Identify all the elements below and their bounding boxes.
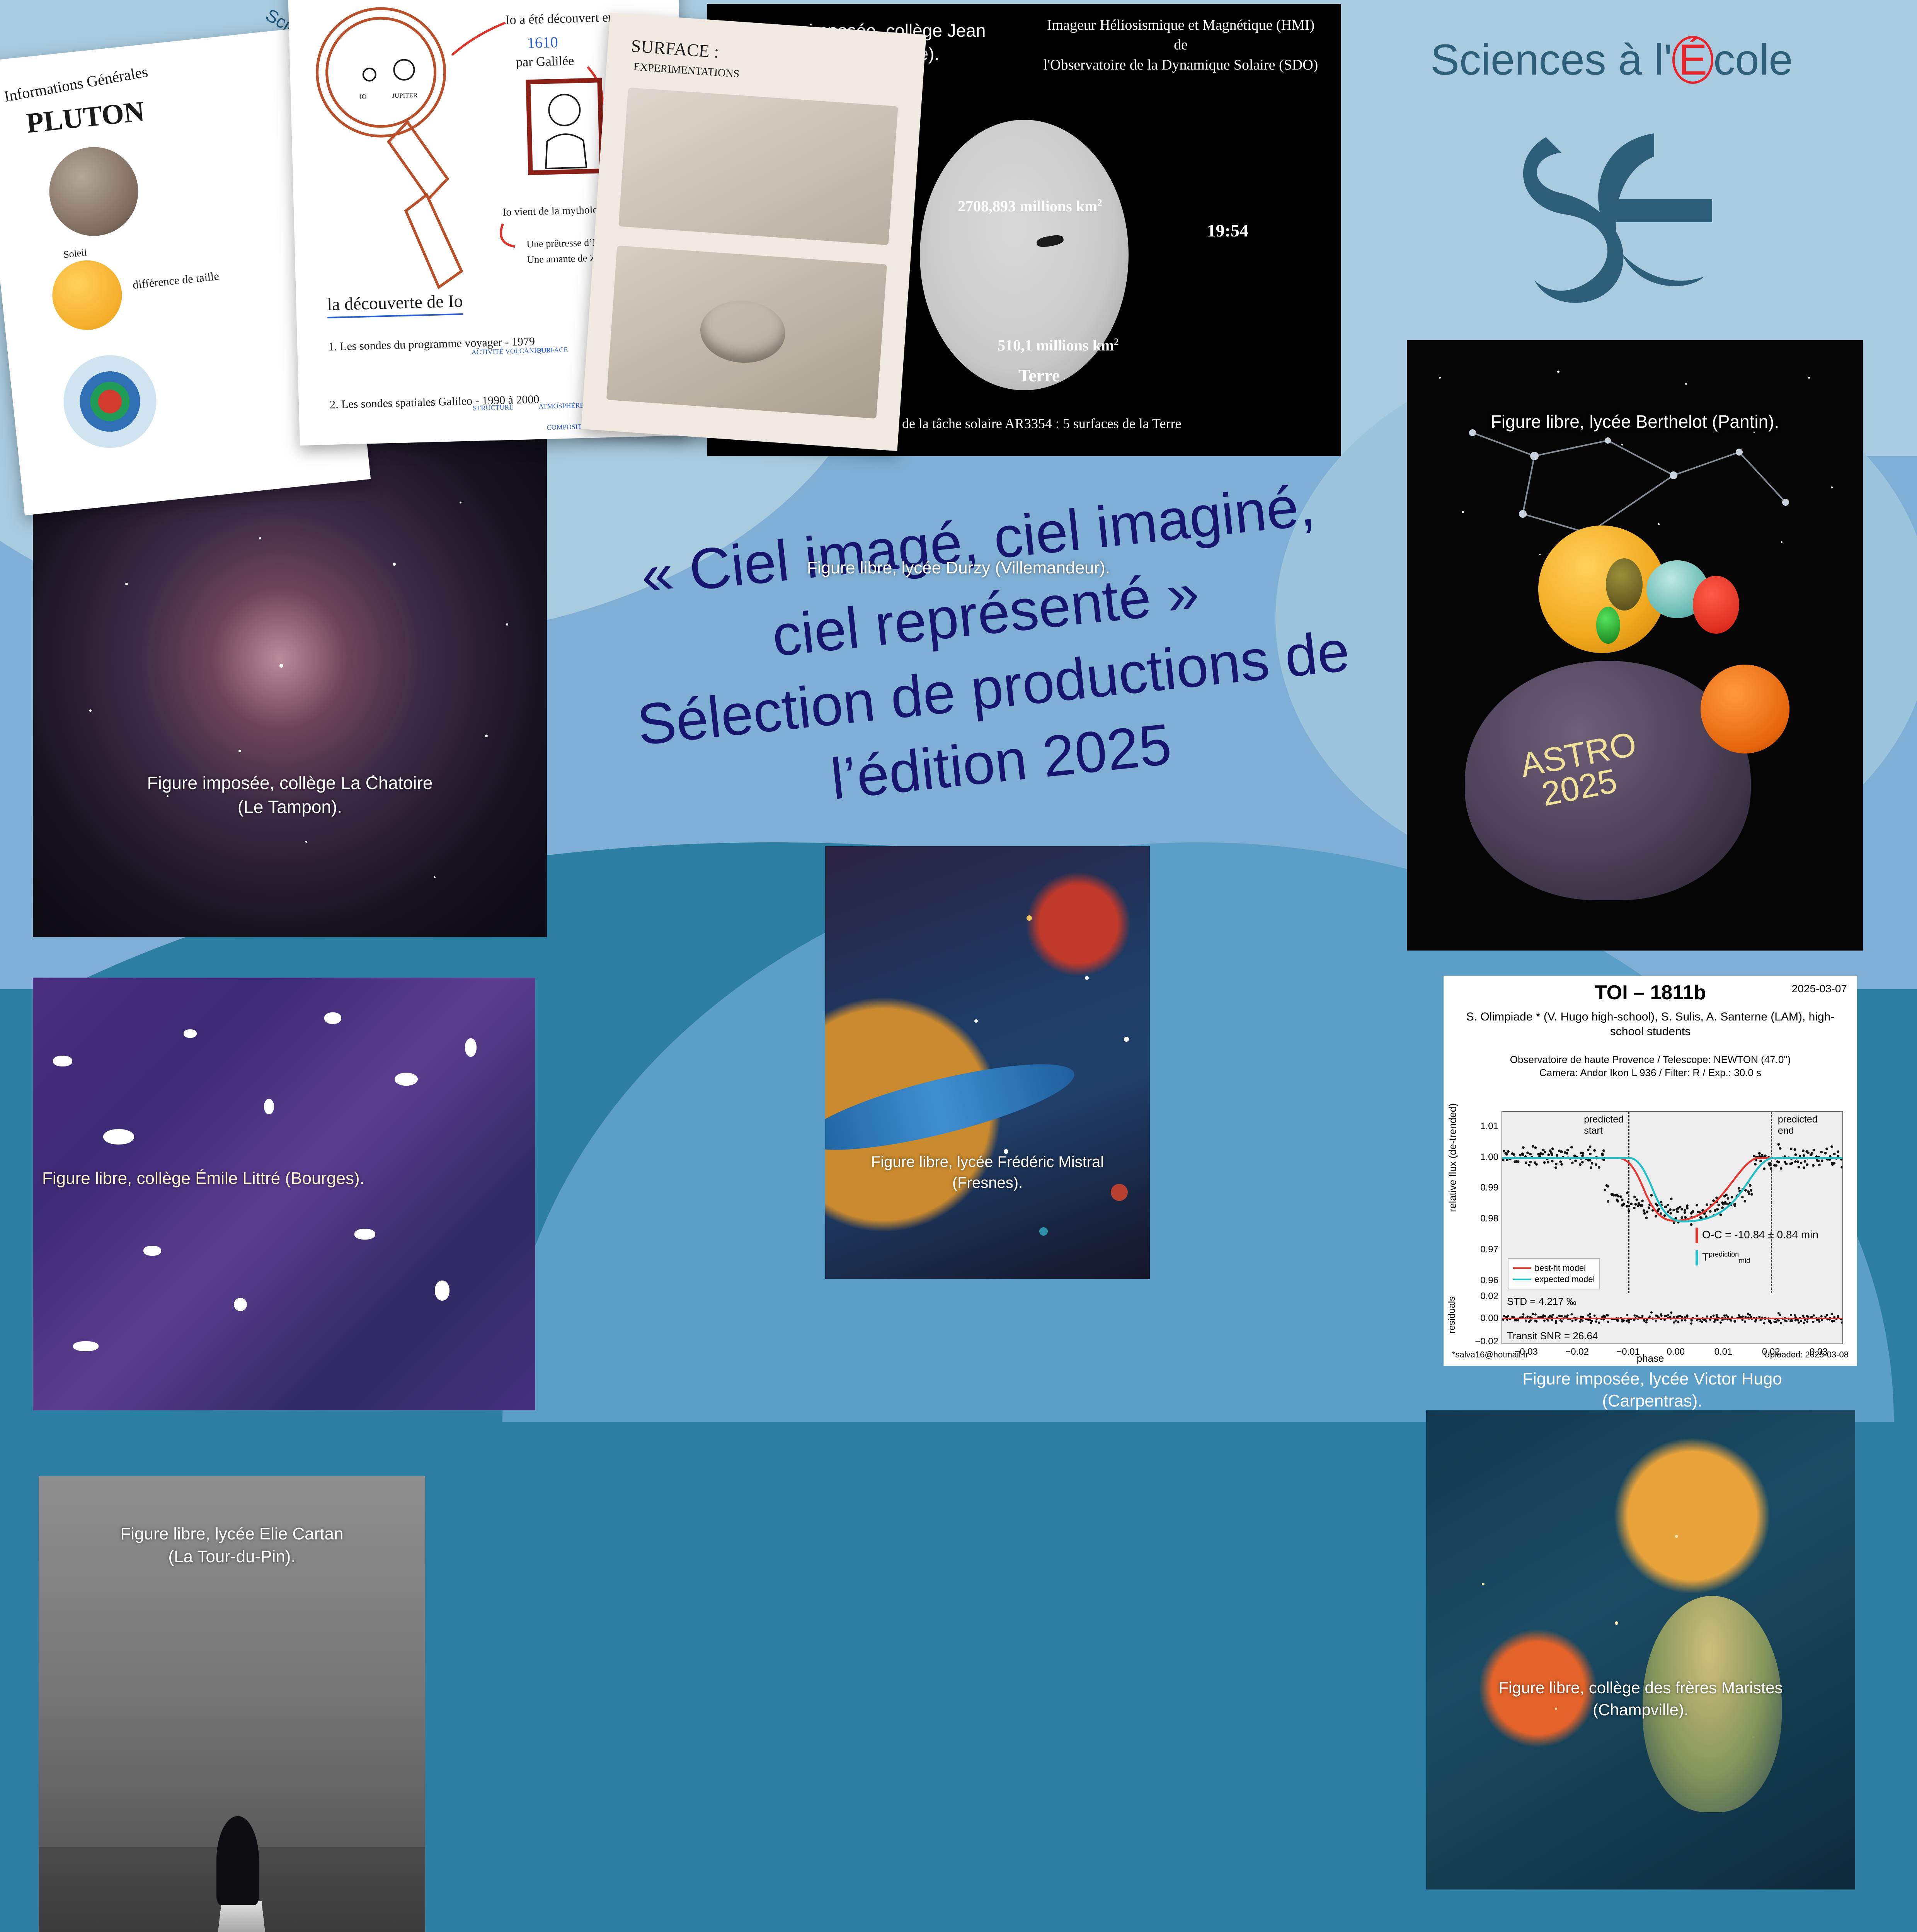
toi-ytick: 0.98 [1480, 1213, 1498, 1224]
structure-sketch [59, 350, 161, 452]
pluto-sketch [45, 143, 143, 240]
paint-splatter [33, 978, 535, 1410]
logo-sae-monogram-icon [1488, 110, 1735, 320]
logo-sciences-a-lecole: Sciences à l'École [1407, 35, 1817, 313]
toi-tmid-annotation: Tpredictionmid [1696, 1250, 1750, 1265]
toi-res-ytick: 0.00 [1480, 1313, 1498, 1324]
sun-sketch [49, 257, 126, 333]
sheet1-note-2: Soleil [63, 247, 87, 260]
toi-ytick: 1.01 [1480, 1121, 1498, 1132]
toi-res-ytick: −0.02 [1475, 1336, 1498, 1347]
toi-header: TOI – 1811b 2025-03-07 S. Olimpiade * (V… [1444, 976, 1857, 1080]
sun-source: Imageur Héliosismique et Magnétique (HMI… [1028, 15, 1333, 75]
earth-area-label: 510,1 millions km2 [998, 336, 1119, 354]
sheet1-note-1: PLUTON [25, 95, 146, 140]
toi-oc-annotation: O-C = -10.84 ± 0.84 min [1696, 1228, 1818, 1243]
toi-bestfit-curve [1502, 1158, 1842, 1221]
sheet2-note-14: JUPITER [392, 92, 418, 100]
toi-authors: S. Olimpiade * (V. Hugo high-school), S.… [1454, 1010, 1847, 1039]
toi-residual-label: residuals [1447, 1296, 1457, 1333]
toi-ytick: 0.99 [1480, 1182, 1498, 1193]
toi-date: 2025-03-07 [1792, 983, 1847, 995]
star-field [33, 431, 547, 937]
panel-orion-la-chatoire: Figure imposée, collège La Chatoire (Le … [33, 431, 547, 937]
toi-main-axes: 1.01 1.00 0.99 0.98 0.97 0.96 predicteds… [1502, 1111, 1843, 1294]
toi-res-ytick: 0.02 [1480, 1291, 1498, 1302]
green-planet [1596, 607, 1620, 644]
toi-legend-item: expected model [1513, 1274, 1595, 1284]
sheet3-note-0: SURFACE : [630, 36, 720, 62]
sheet2-note-18: ATMOSPHÈRE [538, 401, 584, 411]
toi-residual-axes: 0.02 0.00 −0.02 STD = 4.217 ‰ Transit SN… [1502, 1293, 1843, 1344]
toi-ytick: 0.97 [1480, 1244, 1498, 1255]
crater-photo-2 [606, 245, 887, 418]
panel-littre-bourges: Figure libre, collège Émile Littré (Bour… [33, 978, 535, 1410]
sheet2-note-17: STRUCTURE [473, 403, 514, 413]
sheet2-note-16: SURFACE [537, 346, 568, 355]
panel-berthelot-pantin: ASTRO 2025 Figure libre, lycée Berthelot… [1407, 340, 1863, 951]
painted-stars [825, 846, 1150, 1279]
earth-label: Terre [1018, 365, 1060, 386]
sheet2-note-13: IO [359, 93, 366, 100]
toi-caption: Figure imposée, lycée Victor Hugo (Carpe… [1430, 1368, 1874, 1412]
panel-toi-1811b-chart: TOI – 1811b 2025-03-07 S. Olimpiade * (V… [1444, 976, 1857, 1366]
e-circle-icon: É [1672, 36, 1714, 84]
toi-ytick: 0.96 [1480, 1275, 1498, 1286]
red-planet [1693, 576, 1739, 634]
sheet2-note-2: par Galilée [516, 54, 574, 70]
sun-time: 19:54 [1207, 220, 1248, 241]
star-field [1426, 1410, 1855, 1889]
poster-root: Sciences à l’École Astro à l’École Scien… [0, 0, 1917, 1932]
sheet2-note-10: la découverte de Io [327, 291, 463, 318]
toi-residual-points [1502, 1293, 1842, 1344]
panel-mistral-fresnes: Figure libre, lycée Frédéric Mistral (Fr… [825, 846, 1150, 1279]
durzy-sheet-right: SURFACE : EXPERIMENTATIONS [581, 13, 926, 451]
toi-uploaded: Uploaded: 2025-03-08 [1764, 1350, 1849, 1360]
sheet2-note-0: Io a été découvert en [505, 10, 615, 27]
cartan-caption: Figure libre, lycée Elie Cartan (La Tour… [39, 1522, 425, 1568]
orange-planet [1701, 665, 1789, 753]
woman-figure [1643, 1596, 1782, 1812]
sun-area-label: 2708,893 millions km2 [958, 197, 1102, 215]
toi-expected-curve [1502, 1158, 1842, 1221]
sheet1-note-3: différence de taille [132, 270, 220, 292]
crater-photo-1 [618, 87, 898, 245]
panel-maristes-champville: Figure libre, collège des frères Mariste… [1426, 1410, 1855, 1889]
toi-ytick: 1.00 [1480, 1152, 1498, 1163]
panel-cartan-la-tour-du-pin: Figure libre, lycée Elie Cartan (La Tour… [39, 1476, 425, 1932]
toi-instrument: Observatoire de haute Provence / Telesco… [1454, 1053, 1847, 1080]
figure-silhouette [216, 1816, 259, 1905]
toi-legend-item: best-fit model [1513, 1263, 1595, 1273]
toi-legend: best-fit model expected model [1508, 1258, 1600, 1289]
logo-sae-wordmark: Sciences à l'École [1407, 35, 1817, 85]
olive-planet [1606, 558, 1643, 611]
sheet3-note-1: EXPERIMENTATIONS [633, 61, 740, 80]
sunspot-icon [1036, 234, 1064, 248]
toi-ylabel: relative flux (de-trended) [1447, 1103, 1462, 1212]
sheet2-note-1: 1610 [527, 33, 558, 52]
toi-chart-title: TOI – 1811b [1454, 981, 1847, 1004]
toi-email: *salva16@hotmail.fr [1452, 1350, 1528, 1360]
